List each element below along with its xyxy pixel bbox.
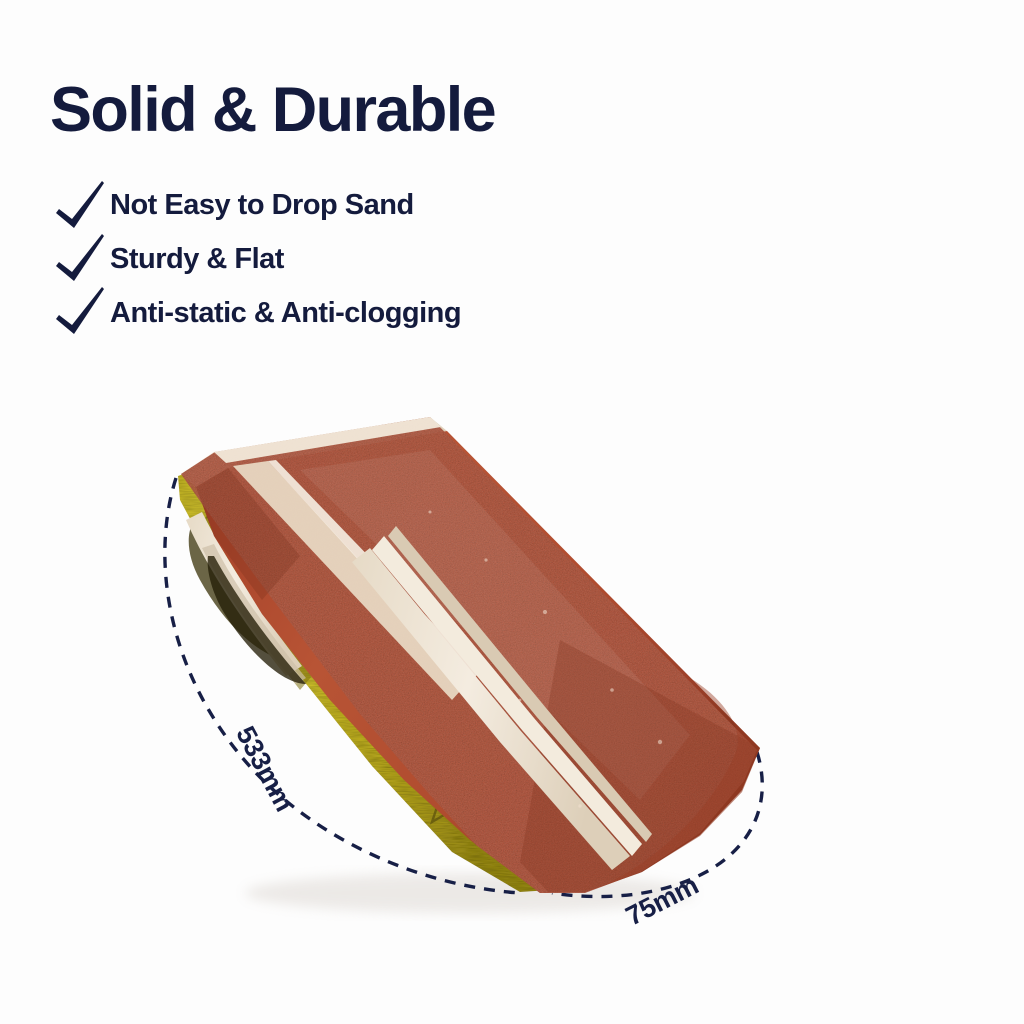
infographic-canvas: Solid & Durable Not Easy to Drop Sand St… (0, 0, 1024, 1024)
belt-abrasive-face (150, 400, 800, 920)
product-image-sanding-belt (0, 0, 1024, 1024)
